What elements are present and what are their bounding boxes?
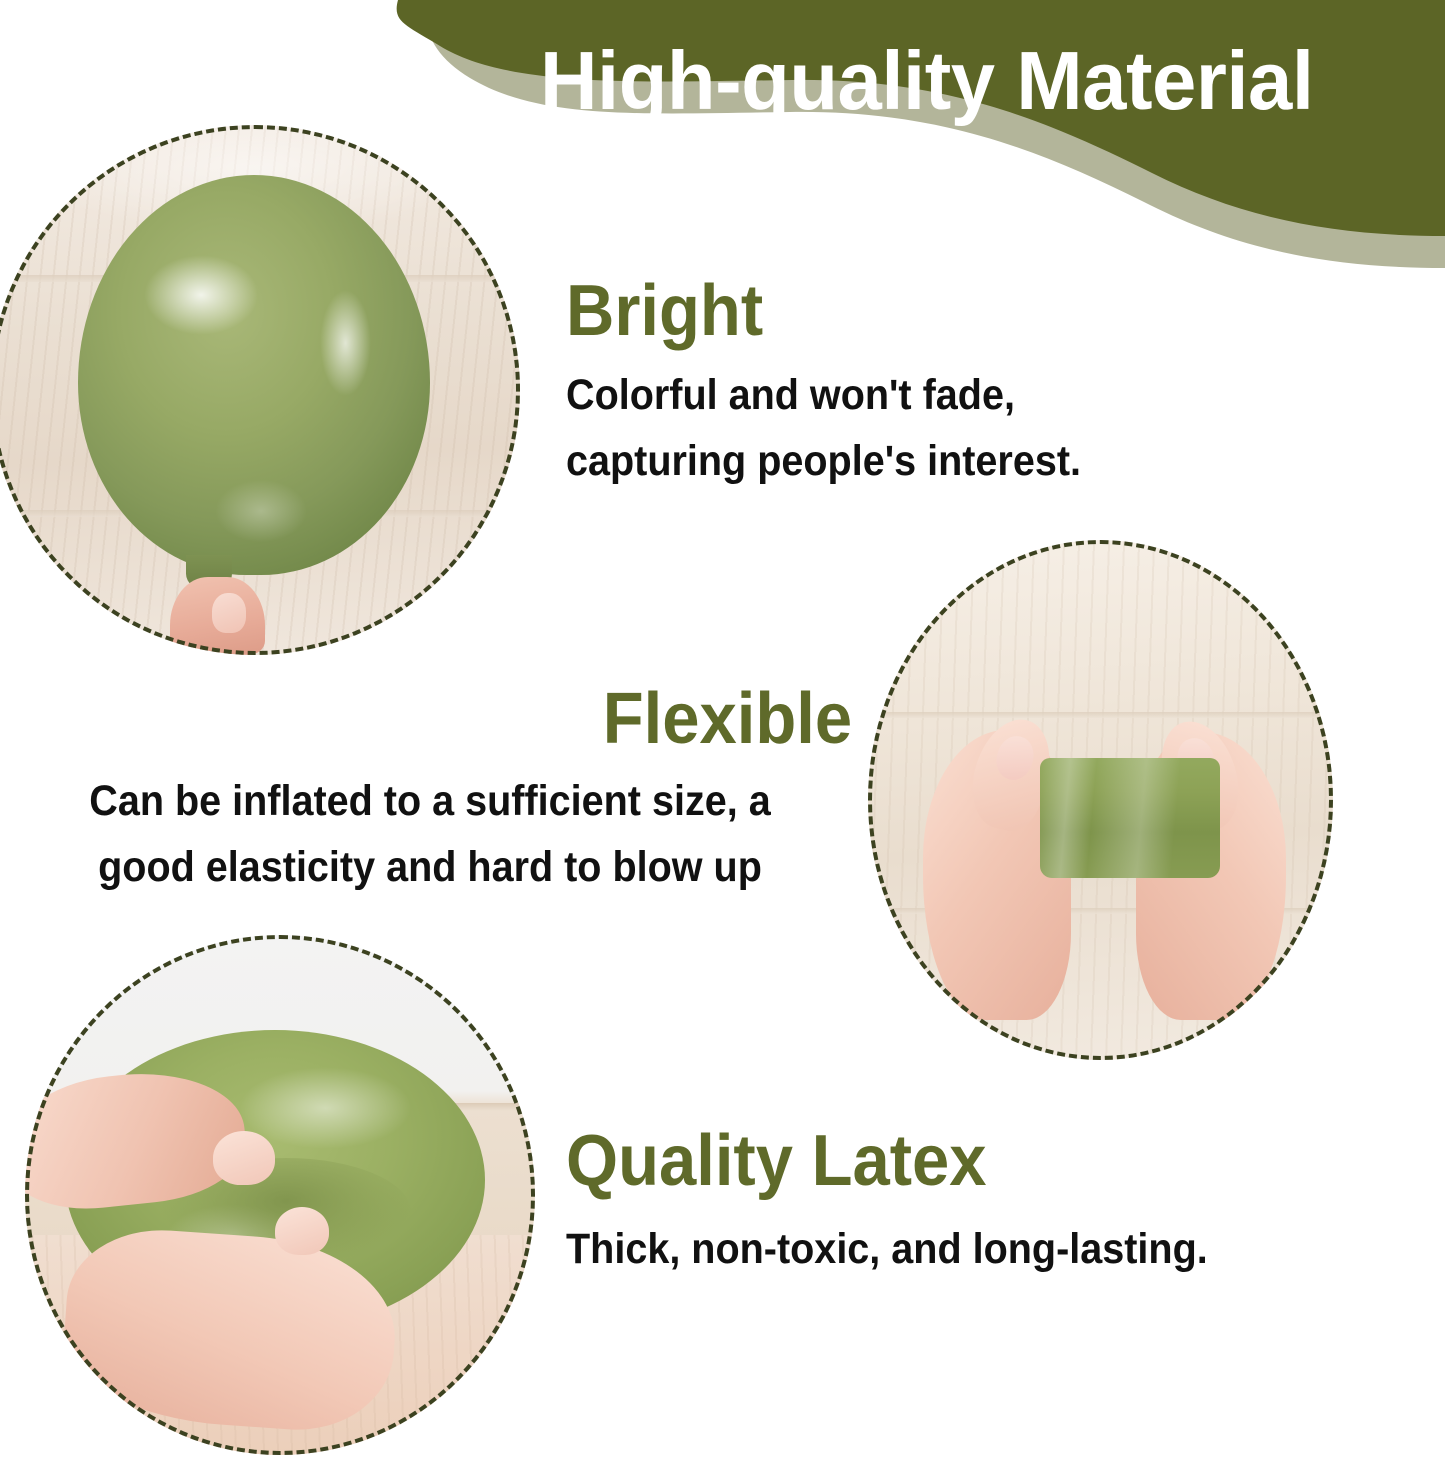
header-band-light <box>427 0 1445 268</box>
feature-heading-flexible: Flexible <box>603 680 852 758</box>
feature-heading-bright: Bright <box>566 272 763 350</box>
page-title: High-quality Material <box>540 26 1409 136</box>
feature-heading-quality-latex: Quality Latex <box>566 1122 987 1200</box>
header-band-dark <box>397 0 1445 236</box>
feature-body-line: capturing people's interest. <box>566 428 1265 494</box>
feature-body-line: Can be inflated to a sufficient size, a <box>34 768 825 834</box>
product-feature-infographic: High-quality Material <box>0 0 1445 1467</box>
feature-body-quality-latex: Thick, non-toxic, and long-lasting. <box>566 1216 1330 1282</box>
dashed-circle-border-stretch <box>868 540 1333 1060</box>
feature-body-flexible: Can be inflated to a sufficient size, a … <box>34 768 825 900</box>
feature-body-line: Colorful and won't fade, <box>566 362 1265 428</box>
feature-body-line: Thick, non-toxic, and long-lasting. <box>566 1216 1330 1282</box>
dashed-circle-border-balloon <box>0 125 520 655</box>
feature-body-line: good elasticity and hard to blow up <box>34 834 825 900</box>
dashed-circle-border-squeeze <box>25 935 535 1455</box>
feature-body-bright: Colorful and won't fade, capturing peopl… <box>566 362 1265 494</box>
